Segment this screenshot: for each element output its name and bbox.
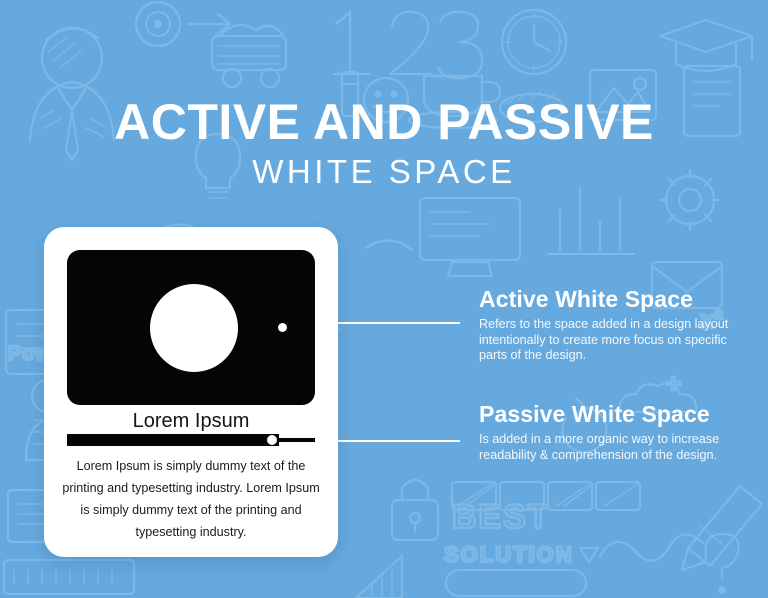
keyboard-icon (4, 560, 134, 594)
progress-bar-track (279, 438, 315, 442)
page-subtitle: WHITE SPACE (0, 152, 768, 192)
pill-bar-icon (446, 570, 586, 596)
truck-icon (212, 25, 286, 87)
header: ACTIVE AND PASSIVE WHITE SPACE (0, 96, 768, 192)
clock-icon (502, 10, 566, 74)
info-text-passive: Is added in a more organic way to increa… (479, 432, 729, 463)
graduation-cap-icon (660, 20, 752, 71)
number-doodle-1 (334, 12, 370, 74)
progress-bar-knob (267, 435, 277, 445)
svg-text:BEST: BEST (452, 498, 551, 536)
svg-text:+: + (666, 368, 681, 398)
bar-chart-icon (548, 188, 634, 254)
info-text-active: Refers to the space added in a design la… (479, 317, 729, 364)
target-arrow-icon (136, 2, 230, 46)
monitor-icon (420, 198, 520, 276)
card-progress-bar (67, 434, 315, 446)
connector-line-passive (338, 440, 460, 442)
info-block-active-white-space: Active White Space Refers to the space a… (479, 286, 729, 364)
number-doodle-2 (390, 12, 432, 74)
tab-row-icon (452, 482, 640, 510)
lock-icon (392, 480, 438, 540)
active-white-space-marker-dot (278, 323, 287, 332)
number-doodle-3 (438, 12, 482, 79)
active-white-space-shape (150, 284, 238, 372)
pencil-icon (682, 486, 762, 570)
progress-bar-fill (67, 434, 279, 446)
example-card: Lorem Ipsum Lorem Ipsum is simply dummy … (44, 227, 338, 557)
ruler-icon (356, 556, 402, 598)
info-title-passive: Passive White Space (479, 401, 729, 427)
infographic-canvas: BEST SOLUTION (0, 0, 768, 598)
card-body-text: Lorem Ipsum is simply dummy text of the … (62, 455, 320, 543)
question-mark-icon (705, 534, 738, 594)
info-block-passive-white-space: Passive White Space Is added in a more o… (479, 401, 729, 463)
svg-text:SOLUTION: SOLUTION (444, 542, 574, 567)
info-title-active: Active White Space (479, 286, 729, 312)
card-heading: Lorem Ipsum (44, 409, 338, 433)
card-media-panel (67, 250, 315, 405)
page-title: ACTIVE AND PASSIVE (0, 96, 768, 148)
